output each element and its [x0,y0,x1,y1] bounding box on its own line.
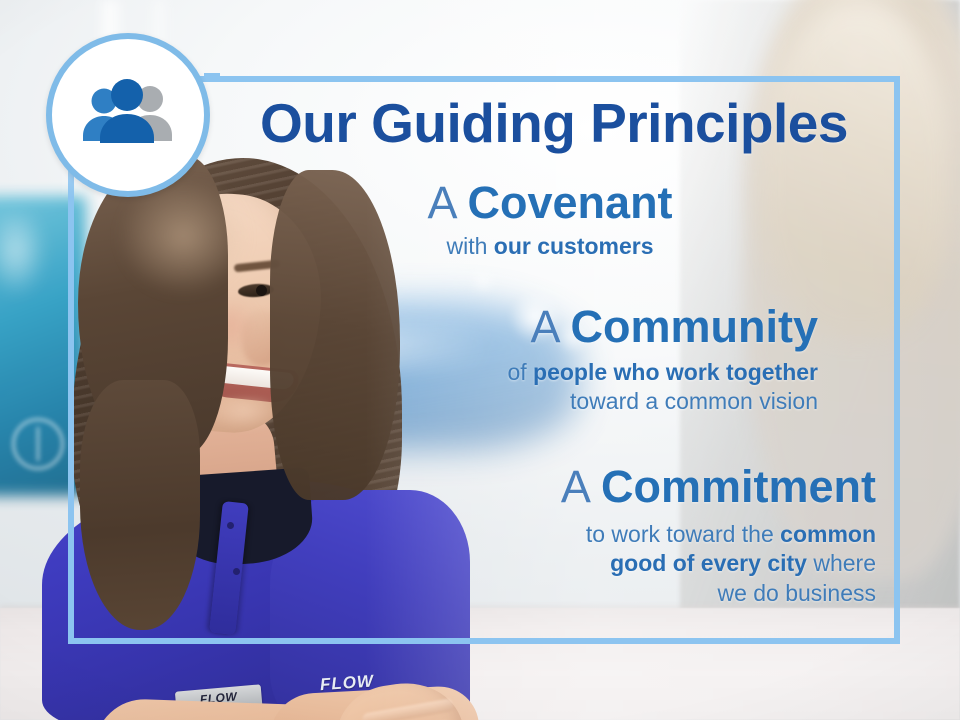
subtext-line-1: to work toward the common [398,520,876,549]
principle-community: A Community of people who work together … [368,304,818,417]
overlay-text-content: Our Guiding Principles A Covenant with o… [68,76,900,644]
subtext-lite: with [446,233,493,259]
headline-article: A [427,177,455,228]
subtext-line-2: toward a common vision [368,387,818,416]
subtext-lite: of [507,359,533,385]
principle-covenant: A Covenant with our customers [340,180,760,261]
subtext-lite: to work toward the [586,521,780,547]
headline-keyword: Community [571,301,819,352]
subtext-bold: people who work together [533,359,818,385]
subtext-bold: our customers [494,233,654,259]
subtext-bold: good of every city [610,550,807,576]
headline-keyword: Covenant [468,177,673,228]
principle-subtext-community: of people who work together toward a com… [368,358,818,417]
principle-commitment: A Commitment to work toward the common g… [398,464,876,608]
subtext-bold: common [780,521,876,547]
headline-keyword: Commitment [601,461,876,512]
guiding-principles-graphic: FLOW AUTOMOTIVE FLOW [0,0,960,720]
headline-article: A [530,301,558,352]
headline-article: A [561,461,589,512]
principle-headline-covenant: A Covenant [340,180,760,226]
page-title: Our Guiding Principles [214,96,894,151]
principle-headline-community: A Community [368,304,818,350]
subtext-line-3: we do business [398,579,876,608]
subtext-line-2: good of every city where [398,549,876,578]
principle-subtext-commitment: to work toward the common good of every … [398,520,876,608]
principle-subtext-covenant: with our customers [340,232,760,261]
subtext-lite: where [807,550,876,576]
principle-headline-commitment: A Commitment [398,464,876,510]
subtext-line-1: of people who work together [368,358,818,387]
